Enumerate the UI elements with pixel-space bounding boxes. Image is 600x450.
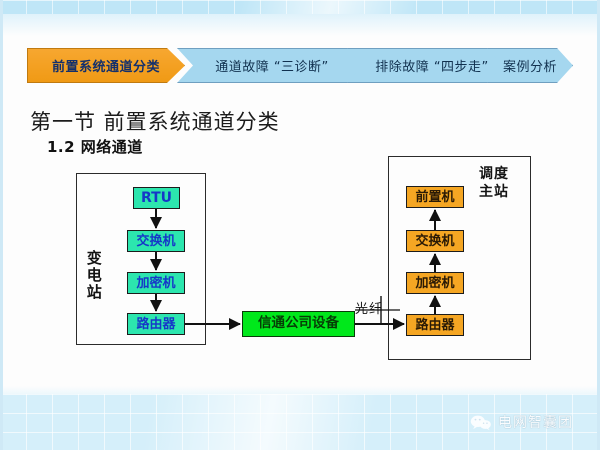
node-rtu-label: RTU bbox=[141, 191, 172, 205]
node-telecom-equipment[interactable]: 信通公司设备 bbox=[242, 311, 355, 337]
node-rtu[interactable]: RTU bbox=[133, 187, 180, 209]
node-master-switch[interactable]: 交换机 bbox=[406, 230, 464, 252]
master-station-title-line2: 主站 bbox=[466, 184, 522, 202]
node-substation-router-label: 路由器 bbox=[136, 318, 175, 331]
node-front-end-processor[interactable]: 前置机 bbox=[406, 186, 464, 208]
node-master-encryptor-label: 加密机 bbox=[415, 277, 454, 290]
substation-title: 变电站 bbox=[85, 250, 101, 301]
node-front-end-processor-label: 前置机 bbox=[415, 191, 454, 204]
node-telecom-equipment-label: 信通公司设备 bbox=[258, 317, 339, 331]
network-diagram: 变电站 调度 主站 bbox=[0, 0, 600, 450]
node-substation-encryptor-label: 加密机 bbox=[136, 277, 175, 290]
node-substation-switch-label: 交换机 bbox=[136, 235, 175, 248]
master-station-title-line1: 调度 bbox=[466, 166, 522, 184]
watermark: 电网智囊团 bbox=[470, 412, 573, 432]
master-station-title: 调度 主站 bbox=[466, 166, 522, 201]
node-substation-encryptor[interactable]: 加密机 bbox=[127, 272, 185, 294]
node-master-router[interactable]: 路由器 bbox=[406, 314, 464, 336]
node-substation-router[interactable]: 路由器 bbox=[127, 313, 185, 335]
node-master-router-label: 路由器 bbox=[415, 319, 454, 332]
node-master-encryptor[interactable]: 加密机 bbox=[406, 272, 464, 294]
node-substation-switch[interactable]: 交换机 bbox=[127, 230, 185, 252]
wechat-icon bbox=[470, 414, 492, 431]
node-master-switch-label: 交换机 bbox=[415, 235, 454, 248]
fiber-link-label: 光纤 bbox=[355, 298, 383, 317]
slide-canvas: 通道故障 “三诊断” 排除故障 “四步走” 案例分析 前置系统通道分类 第一节 … bbox=[0, 0, 600, 450]
watermark-text: 电网智囊团 bbox=[498, 412, 573, 432]
